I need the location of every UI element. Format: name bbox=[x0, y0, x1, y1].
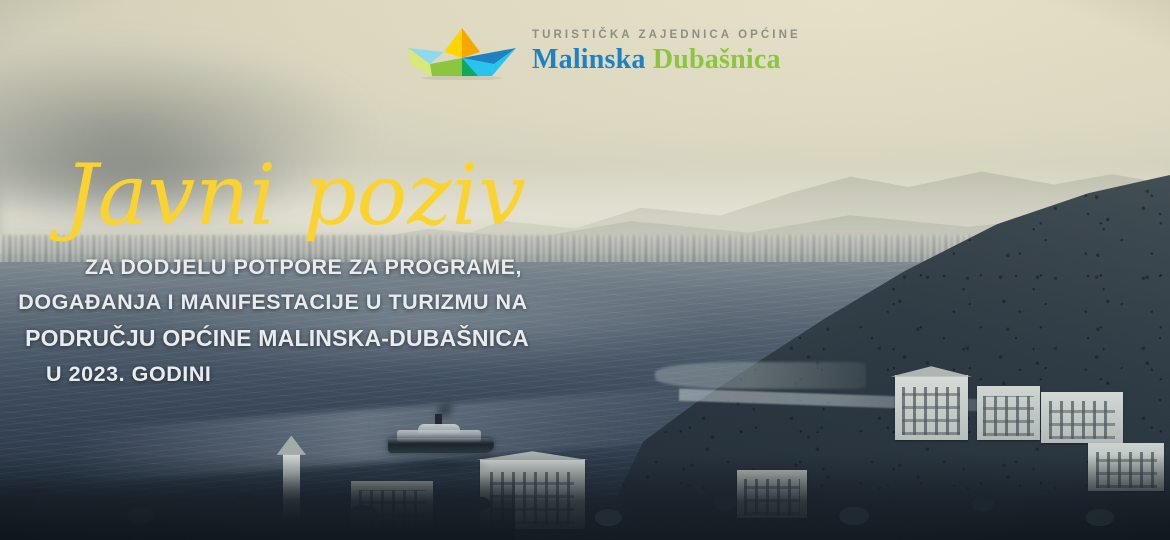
logo-kicker: TURISTIČKA ZAJEDNICA OPĆINE bbox=[532, 30, 801, 42]
logo-word-malinska: Malinska bbox=[532, 44, 646, 75]
steamboat-hull bbox=[388, 438, 493, 453]
paper-boat-icon bbox=[406, 24, 518, 80]
building-windows bbox=[1049, 401, 1115, 439]
subtitle-line-4: U 2023. GODINI bbox=[0, 357, 540, 392]
coastal-building bbox=[1041, 392, 1123, 443]
subtitle-line-1: ZA DODJELU POTPORE ZA PROGRAME, bbox=[0, 250, 540, 285]
headline-script-wrap: Javni poziv bbox=[58, 104, 578, 264]
subtitle-line-2: DOGAĐANJA I MANIFESTACIJE U TURIZMU NA bbox=[0, 285, 540, 320]
logo-word-dubasnica: Dubašnica bbox=[653, 44, 781, 75]
headline-script-svg: Javni poziv bbox=[58, 104, 578, 264]
coastal-building bbox=[895, 375, 968, 440]
coastal-cape bbox=[655, 362, 866, 389]
building-windows bbox=[902, 387, 960, 435]
subtitle-block: ZA DODJELU POTPORE ZA PROGRAME, DOGAĐANJ… bbox=[0, 250, 540, 392]
tourist-board-logo[interactable]: TURISTIČKA ZAJEDNICA OPĆINE Malinska Dub… bbox=[406, 24, 801, 80]
subtitle-line-3: PODRUČJU OPĆINE MALINSKA-DUBAŠNICA bbox=[0, 320, 540, 357]
building-windows bbox=[983, 396, 1034, 436]
logo-text-block: TURISTIČKA ZAJEDNICA OPĆINE Malinska Dub… bbox=[532, 30, 801, 75]
headline-script-text: Javni poziv bbox=[49, 146, 526, 244]
foreground-foliage-left bbox=[0, 475, 515, 540]
logo-wordmark: Malinska Dubašnica bbox=[532, 46, 801, 74]
coastal-building bbox=[977, 386, 1040, 440]
poster-banner: TURISTIČKA ZAJEDNICA OPĆINE Malinska Dub… bbox=[0, 0, 1170, 540]
